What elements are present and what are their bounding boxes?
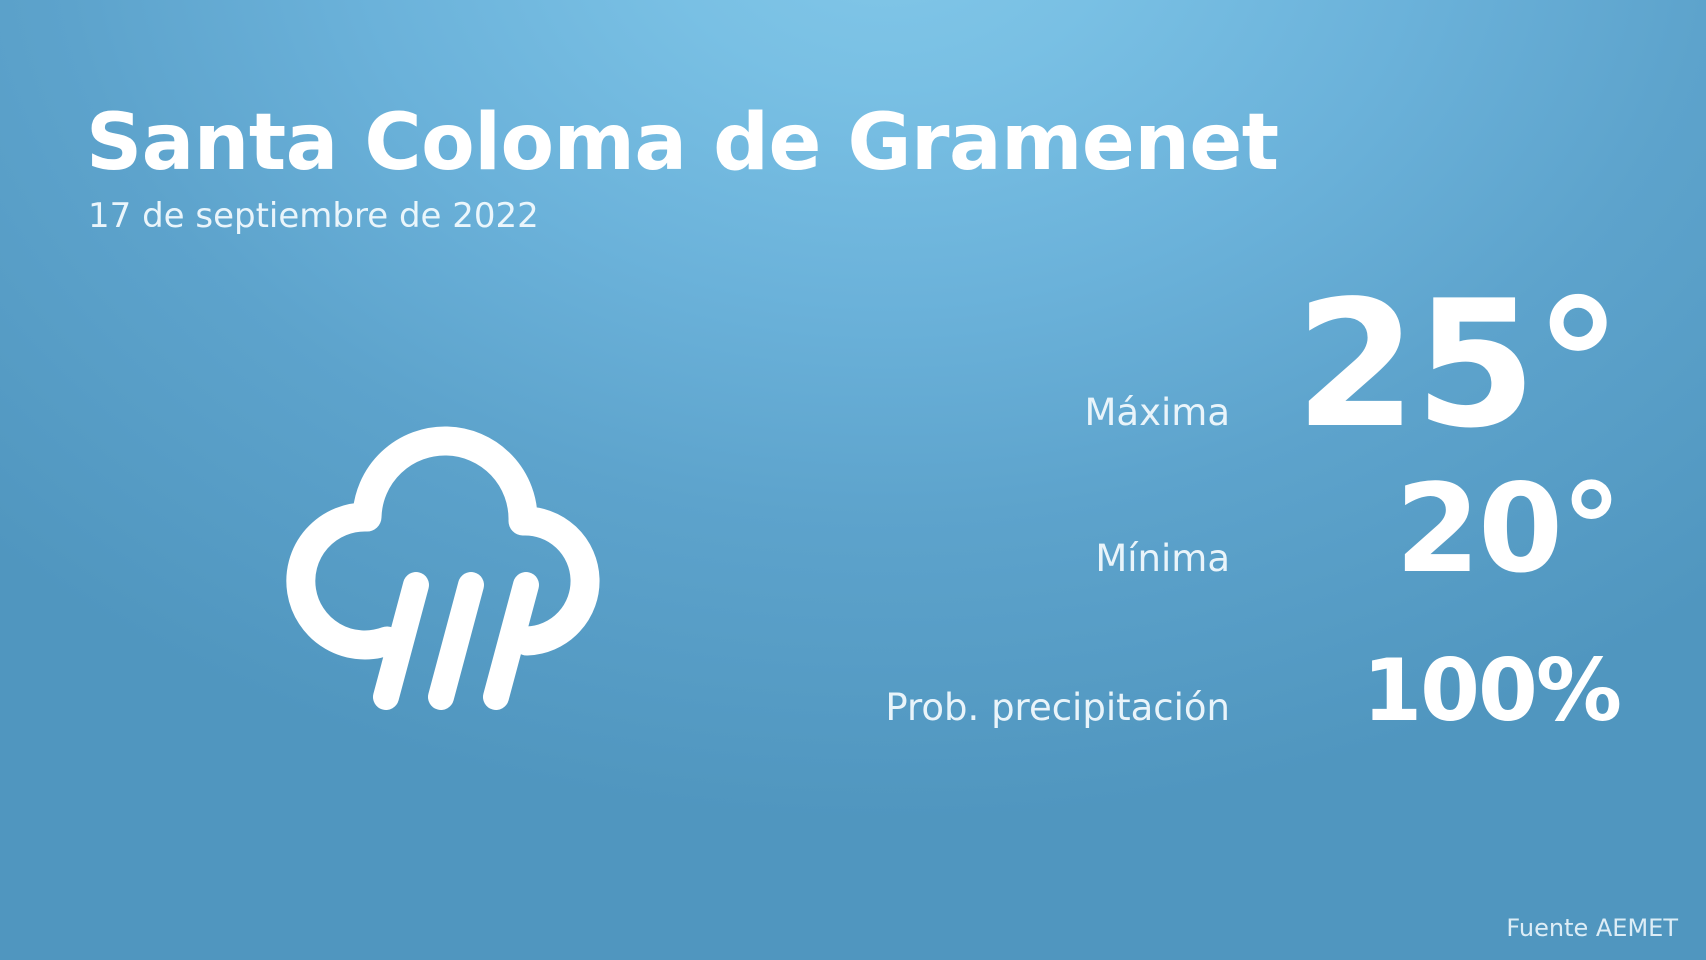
rain-streak-2 (441, 585, 471, 697)
stat-label-precipitacion: Prob. precipitación (885, 686, 1230, 729)
stat-value-maxima: 25° (1230, 278, 1620, 453)
weather-card: Santa Coloma de Gramenet 17 de septiembr… (0, 0, 1706, 960)
stat-label-minima: Mínima (1095, 537, 1230, 580)
page-title: Santa Coloma de Gramenet (86, 104, 1546, 184)
rain-streak-3 (496, 585, 526, 697)
stat-value-precipitacion: 100% (1230, 648, 1620, 734)
rain-streaks (386, 585, 526, 697)
card-header: Santa Coloma de Gramenet 17 de septiembr… (86, 104, 1546, 235)
stat-label-maxima: Máxima (1085, 391, 1231, 434)
rain-streak-1 (386, 585, 416, 697)
cloud-shape (301, 441, 585, 645)
cloud-rain-icon (275, 405, 615, 715)
forecast-date: 17 de septiembre de 2022 (88, 198, 1546, 235)
weather-icon (255, 395, 635, 725)
stat-row-precipitacion: Prob. precipitación 100% (600, 648, 1620, 798)
stat-value-minima: 20° (1230, 468, 1620, 590)
data-source-credit: Fuente AEMET (1506, 914, 1678, 942)
stat-row-minima: Mínima 20° (600, 468, 1620, 648)
forecast-stats: Máxima 25° Mínima 20° Prob. precipitació… (600, 278, 1620, 798)
stat-row-maxima: Máxima 25° (600, 278, 1620, 468)
